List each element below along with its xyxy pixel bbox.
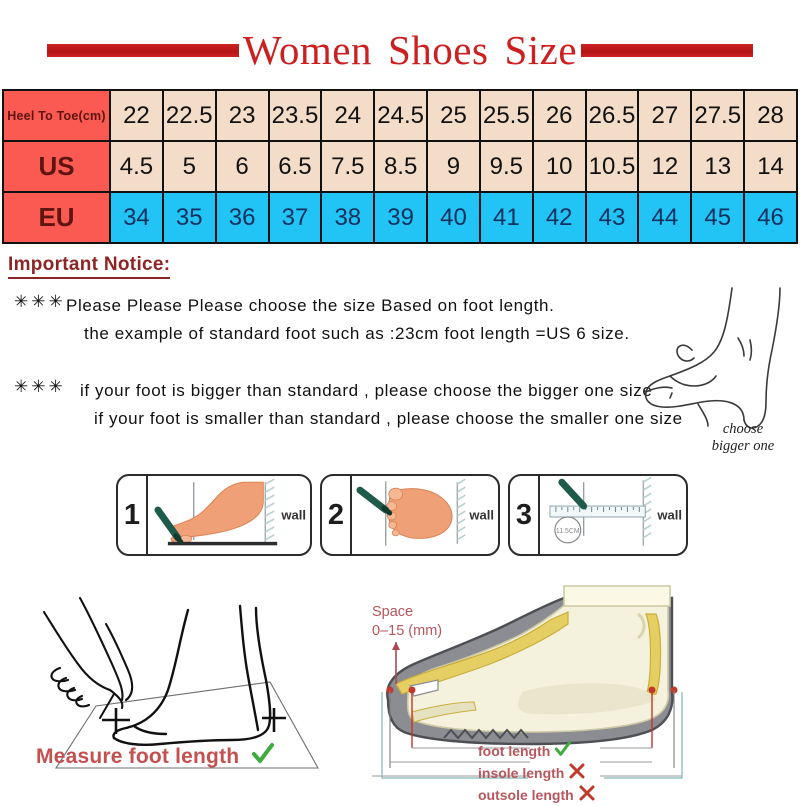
measure-label-outsole-length: outsole length [478, 784, 596, 806]
step-3-wall-label: wall [657, 508, 682, 523]
cell-us-5: 8.5 [374, 141, 427, 192]
cell-cm-8: 26 [533, 90, 586, 141]
sketch-caption: choose bigger one [688, 421, 798, 455]
cell-eu-0: 34 [110, 192, 163, 243]
page-title: WomenShoesSize [0, 22, 800, 78]
step-2: 2 [320, 474, 500, 556]
notice-1-line-2: the example of standard foot such as :23… [84, 320, 630, 348]
cell-eu-1: 35 [163, 192, 216, 243]
cell-cm-5: 24.5 [374, 90, 427, 141]
cell-us-0: 4.5 [110, 141, 163, 192]
cell-us-12: 14 [744, 141, 797, 192]
cell-us-7: 9.5 [480, 141, 533, 192]
cell-eu-12: 46 [744, 192, 797, 243]
step-1: 1 wall [116, 474, 312, 556]
title-word-size: Size [504, 27, 577, 73]
cell-cm-7: 25.5 [480, 90, 533, 141]
cell-eu-2: 36 [216, 192, 269, 243]
cell-us-9: 10.5 [586, 141, 639, 192]
cross-icon [578, 784, 596, 806]
cell-us-3: 6.5 [269, 141, 322, 192]
measure-foot-caption-text: Measure foot length [36, 745, 239, 768]
cell-eu-6: 40 [427, 192, 480, 243]
cell-cm-9: 26.5 [586, 90, 639, 141]
table-row-heel-to-toe: Heel To Toe(cm) 22 22.5 23 23.5 24 24.5 … [3, 90, 797, 141]
important-notice-heading: Important Notice: [8, 254, 170, 279]
table-row-us: US 4.5 5 6 6.5 7.5 8.5 9 9.5 10 10.5 12 … [3, 141, 797, 192]
space-annotation: Space 0–15 (mm) [372, 603, 442, 641]
cell-cm-1: 22.5 [163, 90, 216, 141]
row-label-heel-to-toe: Heel To Toe(cm) [3, 90, 110, 141]
title-word-women: Women [243, 27, 372, 73]
cell-cm-12: 28 [744, 90, 797, 141]
sketch-caption-line-1: choose [688, 421, 798, 438]
cross-icon [568, 762, 586, 784]
title-rule-right [581, 44, 753, 57]
step-3-number: 3 [510, 476, 540, 554]
cell-us-2: 6 [216, 141, 269, 192]
step-3: 3 [508, 474, 688, 556]
step-2-number: 2 [322, 476, 352, 554]
step-1-illustration: wall [148, 476, 310, 554]
cell-eu-9: 43 [586, 192, 639, 243]
check-icon [554, 740, 572, 762]
cell-us-6: 9 [427, 141, 480, 192]
asterisk-icon: ✳✳✳ [14, 377, 66, 397]
step-3-illustration: 11.5CM wall [540, 476, 686, 554]
measure-foot-caption: Measure foot length [36, 742, 275, 772]
cell-cm-2: 23 [216, 90, 269, 141]
measure-label-foot-length: foot length [478, 740, 596, 762]
row-label-us: US [3, 141, 110, 192]
cell-cm-0: 22 [110, 90, 163, 141]
cell-us-1: 5 [163, 141, 216, 192]
title-rule-left [47, 44, 239, 57]
title-text: WomenShoesSize [243, 30, 577, 71]
space-annotation-line-2: 0–15 (mm) [372, 622, 442, 641]
cell-cm-10: 27 [638, 90, 691, 141]
measure-label-outsole-length-text: outsole length [478, 787, 574, 804]
notice-1-line-1: Please Please Please choose the size Bas… [66, 292, 630, 320]
row-label-eu: EU [3, 192, 110, 243]
table-row-eu: EU 34 35 36 37 38 39 40 41 42 43 44 45 4… [3, 192, 797, 243]
cell-us-4: 7.5 [321, 141, 374, 192]
cell-cm-4: 24 [321, 90, 374, 141]
measure-steps: 1 wall [116, 474, 686, 556]
cell-us-11: 13 [691, 141, 744, 192]
cell-eu-11: 45 [691, 192, 744, 243]
cell-cm-11: 27.5 [691, 90, 744, 141]
cell-eu-8: 42 [533, 192, 586, 243]
cell-cm-3: 23.5 [269, 90, 322, 141]
step-2-wall-label: wall [469, 508, 494, 523]
sketch-caption-line-2: bigger one [688, 438, 798, 455]
notice-2-line-2: if your foot is smaller than standard , … [94, 405, 683, 433]
cell-us-8: 10 [533, 141, 586, 192]
notice-block-1: ✳✳✳ Please Please Please choose the size… [14, 292, 630, 348]
step-3-ruler-badge: 11.5CM [556, 528, 580, 535]
step-2-illustration: wall [352, 476, 498, 554]
measure-label-foot-length-text: foot length [478, 743, 550, 760]
title-word-shoes: Shoes [388, 27, 488, 73]
cell-cm-6: 25 [427, 90, 480, 141]
cell-eu-10: 44 [638, 192, 691, 243]
cell-eu-5: 39 [374, 192, 427, 243]
cell-eu-4: 38 [321, 192, 374, 243]
step-1-wall-label: wall [281, 508, 306, 523]
notice-2-line-1: if your foot is bigger than standard , p… [80, 377, 683, 405]
space-annotation-line-1: Space [372, 603, 442, 622]
length-measure-labels: foot length insole length outsole length [478, 740, 596, 806]
asterisk-icon: ✳✳✳ [14, 292, 66, 312]
check-icon [251, 742, 275, 772]
measure-label-insole-length: insole length [478, 762, 596, 784]
notice-block-2: ✳✳✳ if your foot is bigger than standard… [14, 377, 683, 433]
cell-eu-7: 41 [480, 192, 533, 243]
measure-label-insole-length-text: insole length [478, 765, 564, 782]
step-1-number: 1 [118, 476, 148, 554]
cell-eu-3: 37 [269, 192, 322, 243]
cell-us-10: 12 [638, 141, 691, 192]
size-chart-table: Heel To Toe(cm) 22 22.5 23 23.5 24 24.5 … [2, 89, 798, 244]
